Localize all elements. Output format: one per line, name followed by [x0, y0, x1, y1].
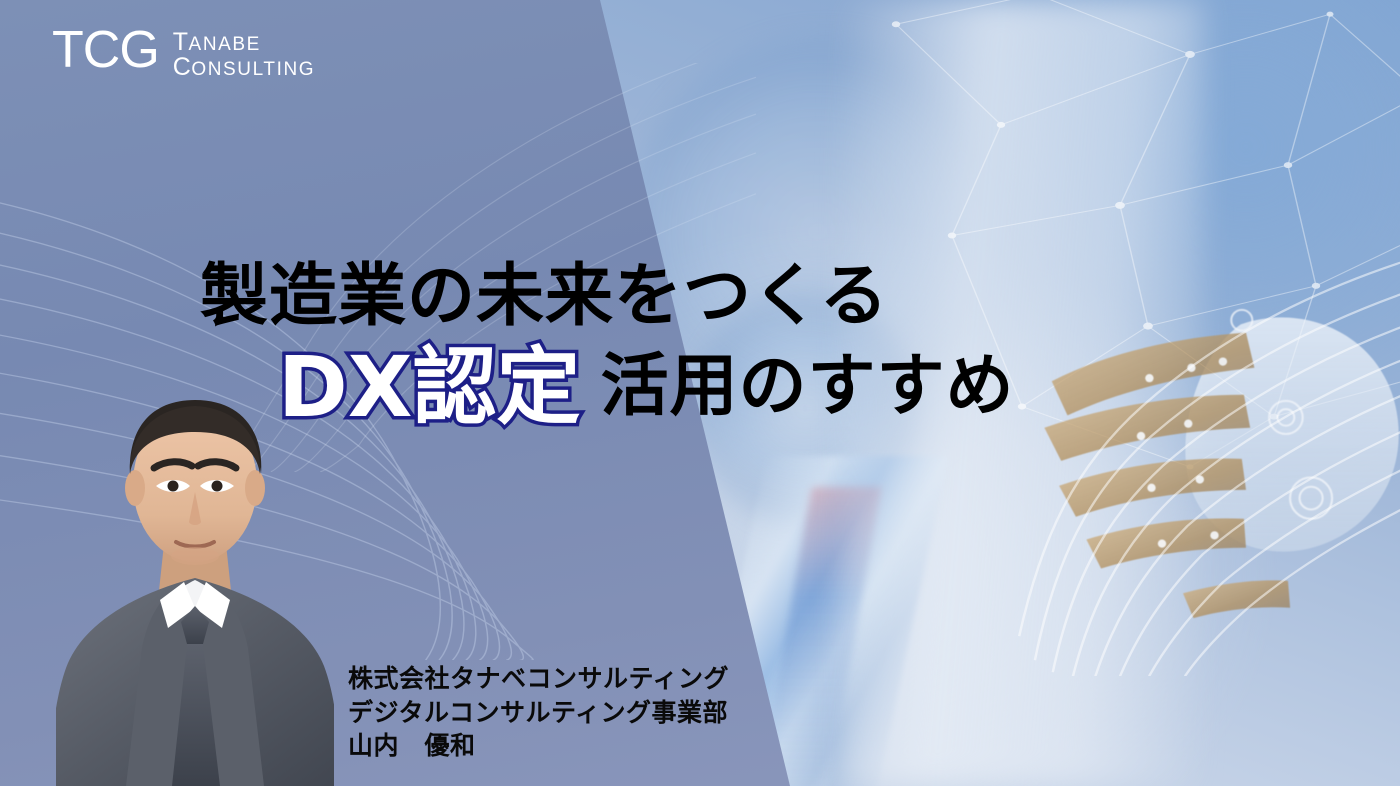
headline-dx-badge: DX認定 — [278, 345, 581, 429]
speaker-name: 山内 優和 — [348, 729, 729, 763]
title-slide: TCG TANABE CONSULTING — [0, 0, 1400, 786]
logo-word-consulting: CONSULTING — [173, 55, 315, 80]
logo-mark-tcg: TCG — [52, 26, 159, 75]
headline-line-2-tail: 活用のすすめ — [601, 353, 1015, 421]
speaker-credit-block: 株式会社タナベコンサルティング デジタルコンサルティング事業部 山内 優和 — [348, 662, 729, 763]
headline-line-1: 製造業の未来をつくる — [200, 262, 1380, 331]
speaker-division: デジタルコンサルティング事業部 — [348, 696, 729, 730]
logo-tanabe-rest: ANABE — [189, 34, 261, 55]
headline-line-2: DX認定 活用のすすめ — [278, 345, 1380, 429]
logo-consulting-rest: ONSULTING — [191, 59, 315, 80]
logo-consulting-cap: C — [173, 53, 192, 81]
headline-block: 製造業の未来をつくる DX認定 活用のすすめ — [200, 262, 1380, 429]
logo-tanabe-cap: T — [173, 28, 189, 56]
logo-wordmark: TANABE CONSULTING — [173, 26, 315, 80]
speaker-company: 株式会社タナベコンサルティング — [348, 662, 729, 696]
brand-logo[interactable]: TCG TANABE CONSULTING — [52, 26, 315, 80]
logo-word-tanabe: TANABE — [173, 30, 315, 55]
